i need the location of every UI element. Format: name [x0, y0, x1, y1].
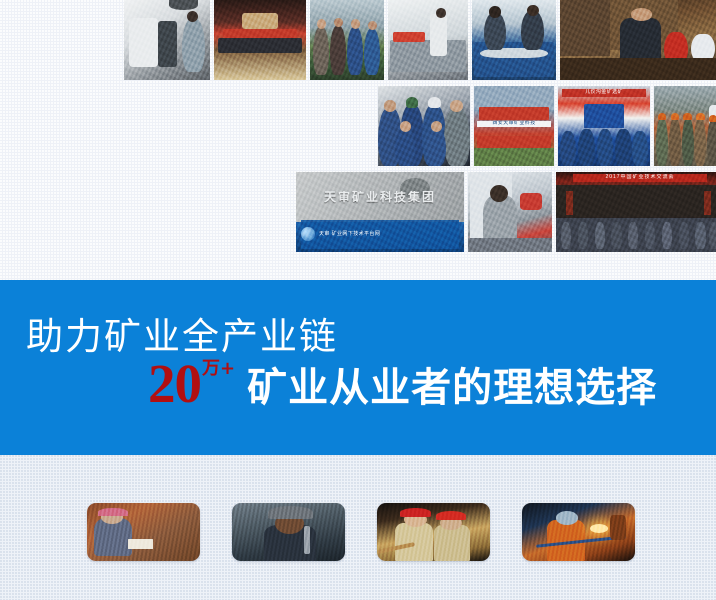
figure-helmet-left [400, 508, 432, 517]
photo-company-name: 天审矿业科技集团 [303, 191, 458, 204]
thumbnail-list [87, 503, 635, 561]
slogan-line-2-text: 矿业从业者的理想选择 [247, 368, 657, 410]
slogan-number-unit: 万+ [202, 360, 235, 378]
thumb-smiling-miner[interactable] [232, 503, 345, 561]
figure-head-left [404, 512, 427, 527]
photo-figures [378, 86, 470, 166]
slogan-number: 20 [148, 358, 201, 410]
figure-body [547, 520, 585, 561]
photo-workers-blue-uniform-group [378, 86, 470, 166]
photo-award-ceremony [214, 0, 306, 80]
figure-body-right [434, 525, 470, 561]
photo-lab-flotation-bench [388, 0, 468, 80]
thumb-smelter-worker[interactable] [522, 503, 635, 561]
photo-workers-orange-helmets [654, 86, 716, 166]
thumb-workers-red-helmets[interactable] [377, 503, 490, 561]
photo-platform-caption: 天审 矿业网下技术平台网 [301, 220, 459, 249]
photo-figures [468, 172, 552, 252]
photo-figures [472, 0, 556, 80]
company-photo-collage: 西安天审矿业科技 几仪沟金矿选矿 [0, 0, 716, 258]
figure-bar [536, 535, 626, 547]
figure-notebook [128, 539, 153, 549]
figure-body [264, 525, 316, 561]
photo-figures [310, 0, 384, 80]
thumb-geologist-at-outcrop[interactable] [87, 503, 200, 561]
figure-head-right [440, 516, 461, 530]
figure-body [94, 518, 132, 556]
photo-figures [558, 86, 650, 166]
collage-row-3: 天审矿业科技集团 天审 矿业网下技术平台网 2017中国矿业技术交流会 [296, 172, 716, 252]
figure-helmet [268, 506, 313, 519]
collage-row-2: 西安天审矿业科技 几仪沟金矿选矿 [378, 86, 716, 166]
figure-helmet-right [436, 511, 467, 520]
photo-lobby-wall-sign: 天审矿业科技集团 天审 矿业网下技术平台网 [296, 172, 464, 252]
photo-figures-front [474, 86, 554, 166]
globe-icon [301, 227, 315, 241]
photo-chairman-at-desk [560, 0, 716, 80]
figure-furnace [610, 515, 626, 541]
photo-staff-at-plant-building: 几仪沟金矿选矿 [558, 86, 650, 166]
slogan-banner: 助力矿业全产业链 20 万+ 矿业从业者的理想选择 [0, 280, 716, 455]
photo-figures [388, 0, 468, 80]
photo-figures [560, 0, 716, 80]
figure-head [556, 511, 579, 525]
photo-platform-text: 天审 矿业网下技术平台网 [319, 232, 380, 238]
figure-tool [304, 526, 310, 554]
collage-row-1 [124, 0, 716, 80]
figure-rod [377, 542, 415, 554]
figure-head [275, 513, 304, 534]
photo-woman-raising-flag [468, 172, 552, 252]
photo-miners-outdoors [310, 0, 384, 80]
photo-team-with-banner: 西安天审矿业科技 [474, 86, 554, 166]
photo-figures [654, 86, 716, 166]
figure-head [101, 510, 124, 524]
photo-industry-conference-group: 2017中国矿业技术交流会 [556, 172, 716, 252]
photo-technicians-weighing [472, 0, 556, 80]
industry-thumbnail-strip [0, 455, 716, 600]
photo-figures [556, 172, 716, 252]
photo-figures [124, 0, 210, 80]
figure-molten-glow [590, 524, 608, 533]
slogan-line-1: 助力矿业全产业链 [26, 306, 338, 360]
promo-page: 西安天审矿业科技 几仪沟金矿选矿 [0, 0, 716, 600]
figure-body-left [395, 523, 433, 561]
photo-lab-instruments [124, 0, 210, 80]
figure-cap [98, 508, 127, 516]
slogan-line-2: 20 万+ 矿业从业者的理想选择 [148, 358, 657, 410]
photo-figures [214, 0, 306, 80]
